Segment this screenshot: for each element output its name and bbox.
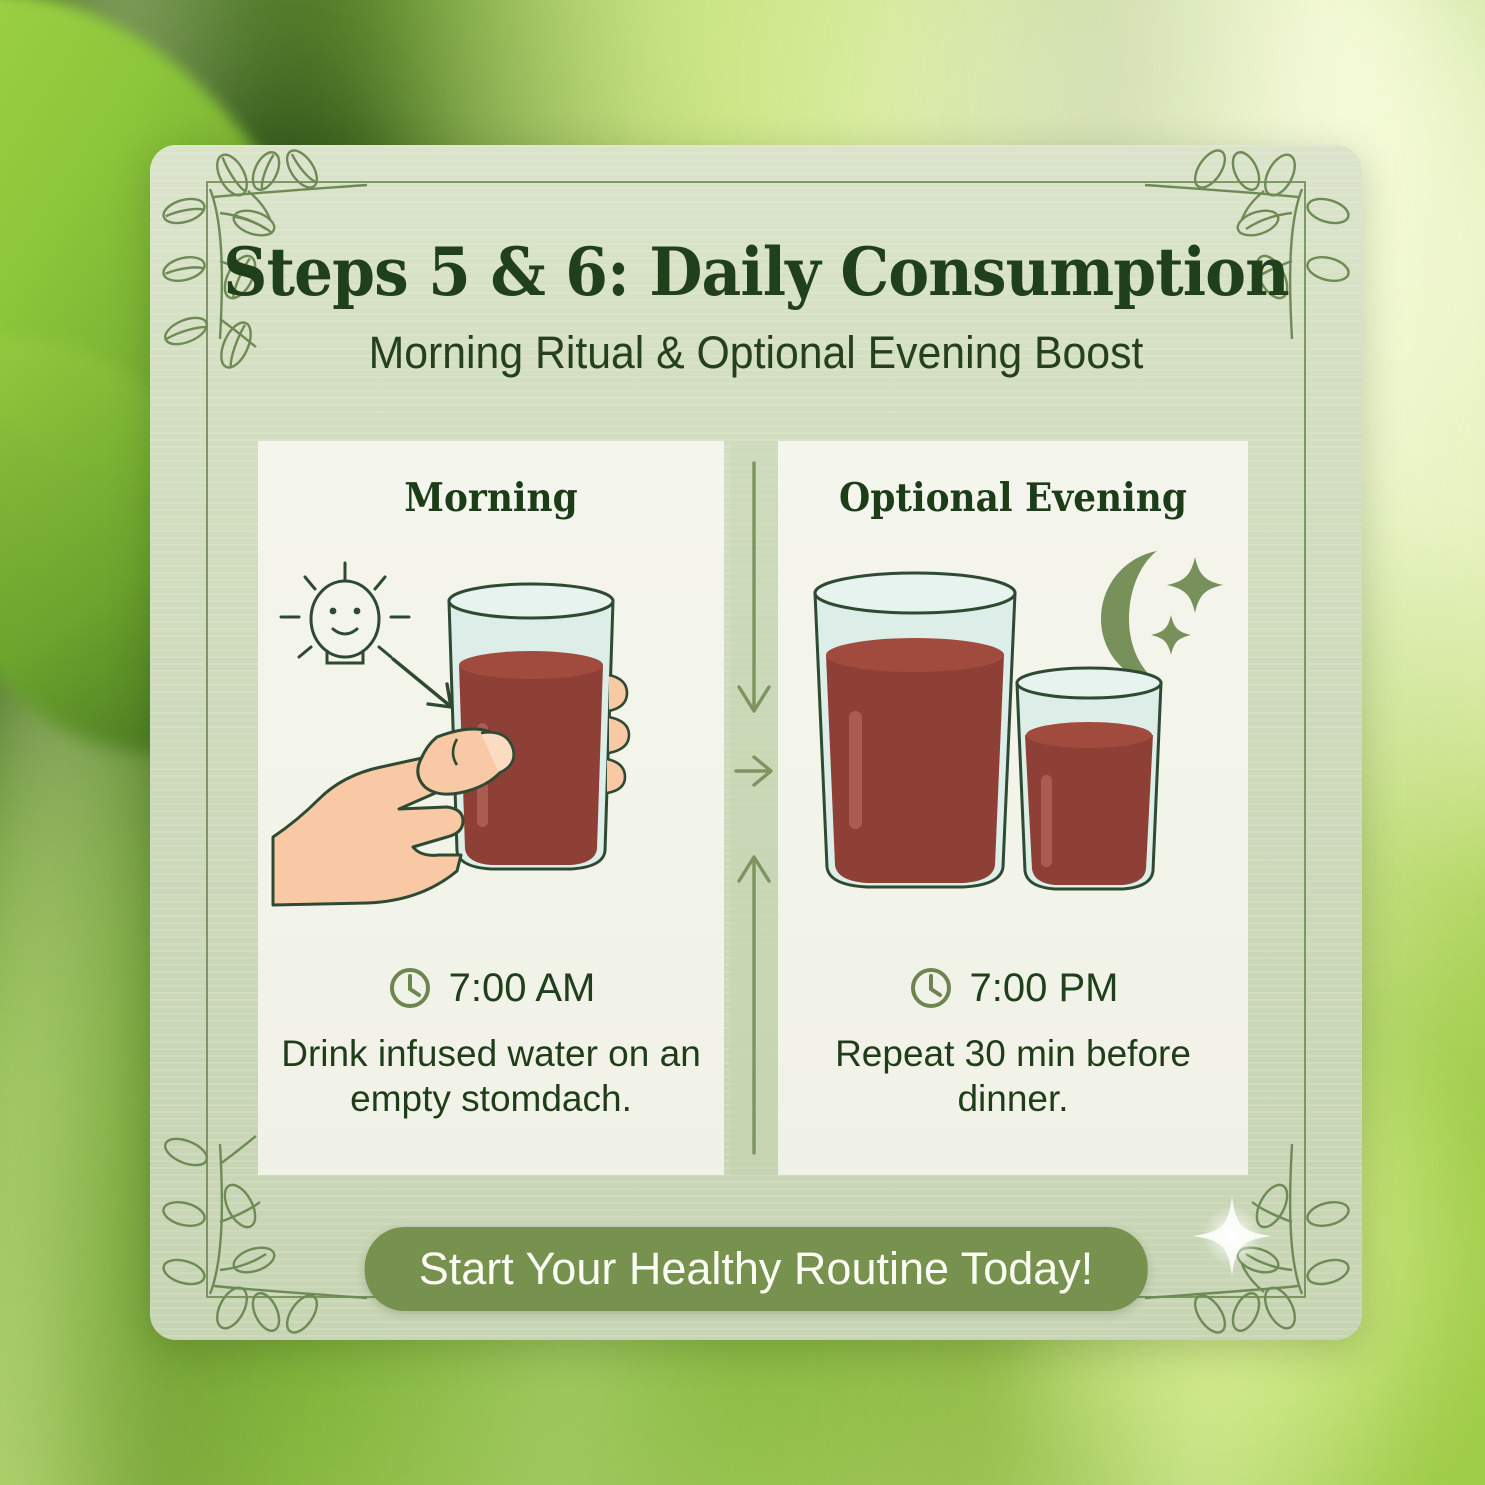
pointer-arrow-icon xyxy=(393,659,451,707)
cta-button[interactable]: Start Your Healthy Routine Today! xyxy=(365,1227,1148,1311)
glass-large xyxy=(815,573,1015,887)
arrow-up-icon xyxy=(739,857,769,1153)
morning-description: Drink infused water on an empty stomdach… xyxy=(278,1031,704,1121)
clock-icon xyxy=(908,965,954,1011)
evening-time-label: 7:00 PM xyxy=(970,966,1119,1011)
connector-arrows xyxy=(730,441,778,1175)
page-title: Steps 5 & 6: Daily Consumption xyxy=(192,233,1319,311)
sparkle-icon xyxy=(1184,1188,1280,1284)
morning-time-label: 7:00 AM xyxy=(449,966,596,1011)
evening-illustration xyxy=(778,537,1248,931)
morning-time-row: 7:00 AM xyxy=(258,965,724,1011)
sun-smiley-icon xyxy=(281,563,409,663)
morning-illustration xyxy=(258,537,724,931)
arrow-down-icon xyxy=(739,463,769,711)
panel-evening-title: Optional Evening xyxy=(797,475,1229,521)
glass-small xyxy=(1017,668,1161,889)
glass-of-infused-water xyxy=(449,584,613,869)
crescent-moon-stars-icon xyxy=(1101,551,1223,685)
panel-evening: Optional Evening xyxy=(778,441,1248,1175)
page-subtitle: Morning Ritual & Optional Evening Boost xyxy=(180,327,1331,379)
clock-icon xyxy=(387,965,433,1011)
evening-description: Repeat 30 min before dinner. xyxy=(798,1031,1228,1121)
evening-time-row: 7:00 PM xyxy=(778,965,1248,1011)
infographic-card: Steps 5 & 6: Daily Consumption Morning R… xyxy=(150,145,1362,1340)
arrow-right-icon xyxy=(736,757,771,785)
panel-morning-title: Morning xyxy=(277,475,706,521)
panel-morning: Morning xyxy=(258,441,724,1175)
